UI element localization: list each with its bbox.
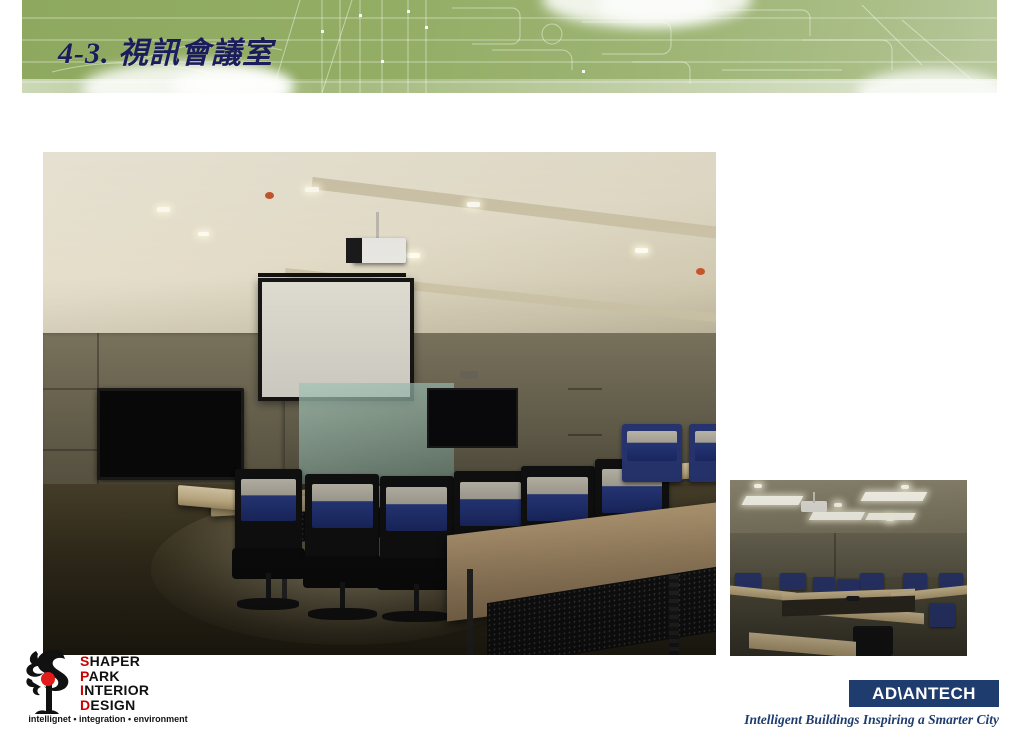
- shaperpark-line-4-rest: ESIGN: [90, 697, 135, 713]
- shaperpark-line-1: SHAPER: [80, 654, 149, 669]
- header-banner: 4-3. 視訊會議室: [22, 0, 997, 93]
- advantech-tagline: Intelligent Buildings Inspiring a Smarte…: [744, 712, 999, 728]
- photo-video-conference-room-wide: [43, 152, 716, 655]
- shaperpark-line-2: PARK: [80, 669, 149, 684]
- photo-u-shape-conference-room: [730, 480, 967, 656]
- page-title: 4-3. 視訊會議室: [58, 28, 273, 72]
- photo-vignette: [43, 152, 716, 655]
- shaperpark-line-3: INTERIOR: [80, 683, 149, 698]
- shaperpark-wordmark: SHAPER PARK INTERIOR DESIGN: [80, 654, 149, 712]
- photo2-vignette: [730, 480, 967, 656]
- shaperpark-line-4-cap: D: [80, 697, 90, 713]
- header-bottom-fade: [22, 79, 997, 93]
- advantech-logo: AD\ANTECH: [849, 680, 999, 707]
- shaperpark-logo: SHAPER PARK INTERIOR DESIGN intellignet …: [22, 648, 194, 728]
- shaperpark-tagline: intellignet • integration • environment: [22, 714, 194, 724]
- shaperpark-line-4: DESIGN: [80, 698, 149, 713]
- advantech-branding: AD\ANTECH Intelligent Buildings Inspirin…: [740, 680, 1002, 728]
- advantech-wordmark: AD\ANTECH: [872, 684, 976, 704]
- shaperpark-brush-mark-icon: [22, 648, 80, 714]
